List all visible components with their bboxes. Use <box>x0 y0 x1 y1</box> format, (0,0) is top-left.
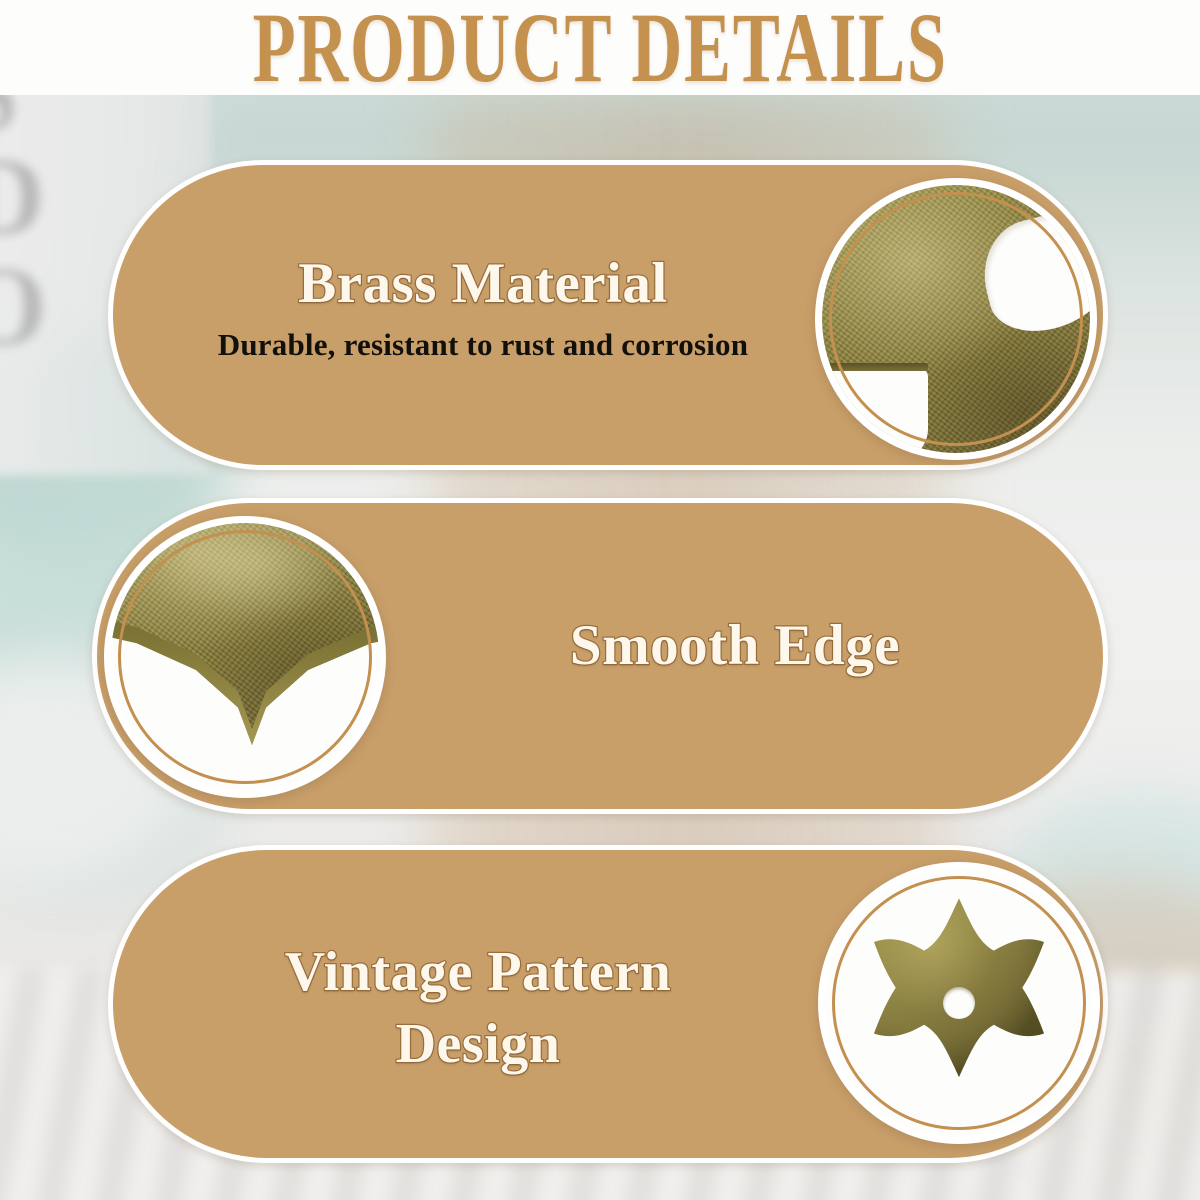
photo-inner-3 <box>825 869 1093 1137</box>
brass-plate-notch-bottom-left <box>822 369 928 453</box>
photo-inner-1 <box>822 185 1090 453</box>
page-title: PRODUCT DETAILS <box>252 0 947 98</box>
feature-card-title: Smooth Edge <box>367 615 1103 677</box>
feature-card-subtitle: Durable, resistant to rust and corrosion <box>113 325 853 365</box>
feature-card-title-line1: Vintage Pattern <box>113 936 843 1008</box>
background-wall-art-letter-3: O <box>0 243 41 372</box>
feature-card-title-line2: Design <box>113 1008 843 1080</box>
brass-texture-closeup-photo <box>815 178 1097 460</box>
feature-card-title: Brass Material <box>113 253 853 315</box>
product-details-infographic: S D O PRODUCT DETAILS Brass Material Dur… <box>0 0 1200 1200</box>
header-bar: PRODUCT DETAILS <box>0 0 1200 95</box>
quatrefoil-center-hole <box>943 987 975 1019</box>
smooth-edge-highlight <box>141 523 371 623</box>
smooth-edge-closeup-photo <box>104 516 386 798</box>
quatrefoil-backplate-photo <box>818 862 1100 1144</box>
photo-inner-2 <box>111 523 379 791</box>
